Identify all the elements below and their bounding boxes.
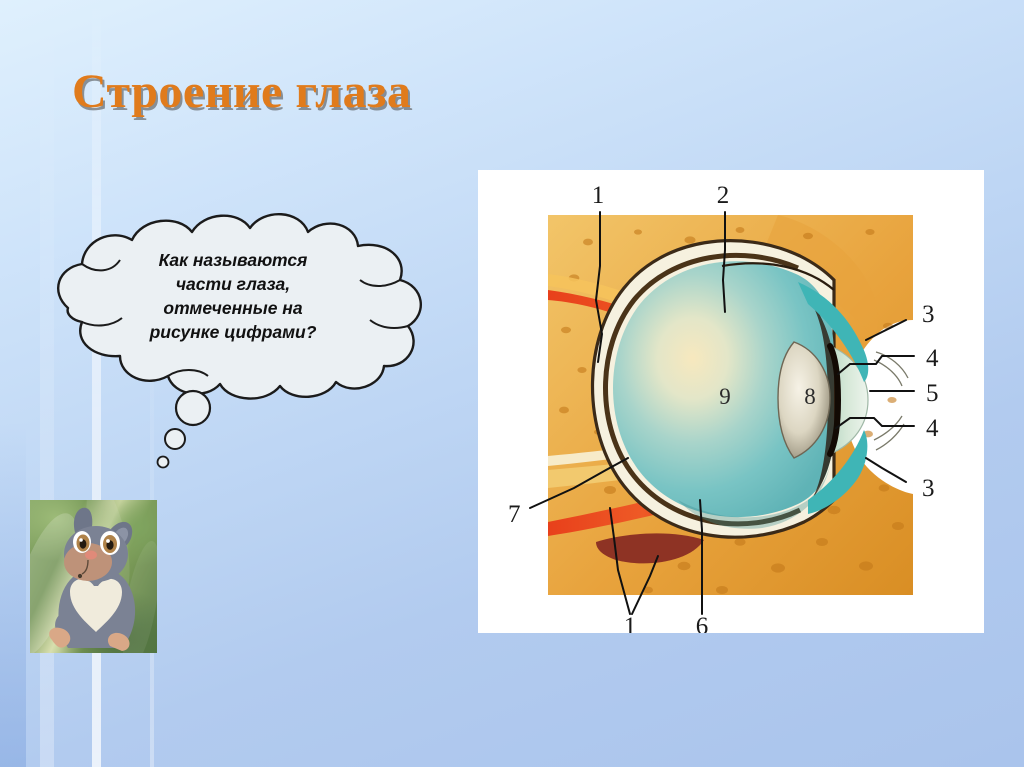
callout-label-2: 2 <box>717 182 730 209</box>
thought-bubble-dot-small <box>158 457 169 468</box>
thought-bubble-shape <box>8 196 458 496</box>
eye-diagram-image: 1 2 3 4 5 4 3 7 1 6 9 8 <box>478 170 984 633</box>
callout-label-6: 6 <box>696 613 709 633</box>
page-title: Строение глаза <box>72 64 411 119</box>
bubble-line-1: Как называются <box>108 248 358 272</box>
callout-label-5: 5 <box>926 380 939 407</box>
bubble-line-2: части глаза, <box>108 272 358 296</box>
thought-bubble: Как называются части глаза, отмеченные н… <box>8 196 458 496</box>
callout-label-7: 7 <box>508 501 521 528</box>
callout-label-3-lower: 3 <box>922 475 935 502</box>
thought-bubble-dot-medium <box>165 429 185 449</box>
callout-label-1-top: 1 <box>592 182 605 209</box>
bubble-line-3: отмеченные на <box>108 296 358 320</box>
callout-label-1-bottom: 1 <box>624 613 637 633</box>
callout-label-4-upper: 4 <box>926 345 939 372</box>
slide-canvas: Строение глаза Как называются части глаз… <box>0 0 1024 767</box>
rabbit-figure <box>30 500 157 653</box>
eye-diagram-panel: 1 2 3 4 5 4 3 7 1 6 9 8 <box>478 170 984 633</box>
thought-bubble-text: Как называются части глаза, отмеченные н… <box>108 248 358 344</box>
callout-label-4-lower: 4 <box>926 415 939 442</box>
bubble-line-4: рисунке цифрами? <box>108 320 358 344</box>
inner-label-9-vitreous: 9 <box>719 384 731 409</box>
rabbit-image <box>30 500 157 653</box>
inner-label-8-lens: 8 <box>804 384 816 409</box>
callout-label-3-upper: 3 <box>922 301 935 328</box>
thought-bubble-dot-large <box>176 391 210 425</box>
